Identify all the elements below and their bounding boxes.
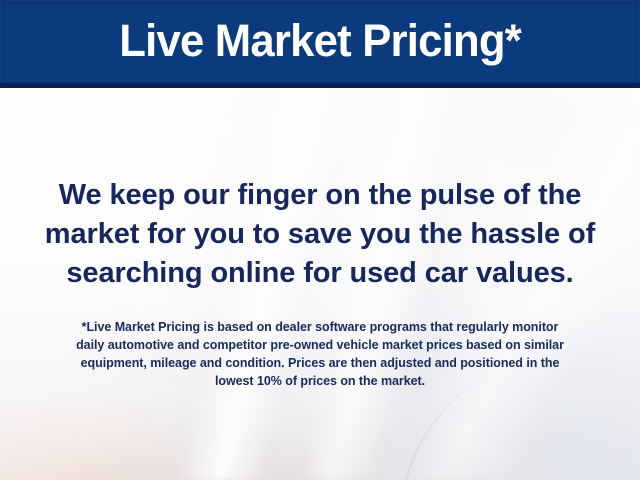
disclaimer-line-4: lowest 10% of prices on the market. (24, 372, 616, 390)
disclaimer-line-3: equipment, mileage and condition. Prices… (24, 354, 616, 372)
live-market-pricing-card: Live Market Pricing* We keep our finger … (0, 0, 640, 480)
disclaimer-text: *Live Market Pricing is based on dealer … (24, 318, 616, 390)
headline-text: We keep our finger on the pulse of the m… (28, 176, 612, 293)
disclaimer-line-1: *Live Market Pricing is based on dealer … (24, 318, 616, 336)
disclaimer-line-2: daily automotive and competitor pre-owne… (24, 336, 616, 354)
title-banner: Live Market Pricing* (0, 0, 640, 88)
headline-line-1: We keep our finger on the pulse of the (28, 176, 612, 215)
headline-line-2: market for you to save you the hassle of (28, 215, 612, 254)
headline-line-3: searching online for used car values. (28, 254, 612, 293)
page-title: Live Market Pricing* (119, 18, 521, 63)
